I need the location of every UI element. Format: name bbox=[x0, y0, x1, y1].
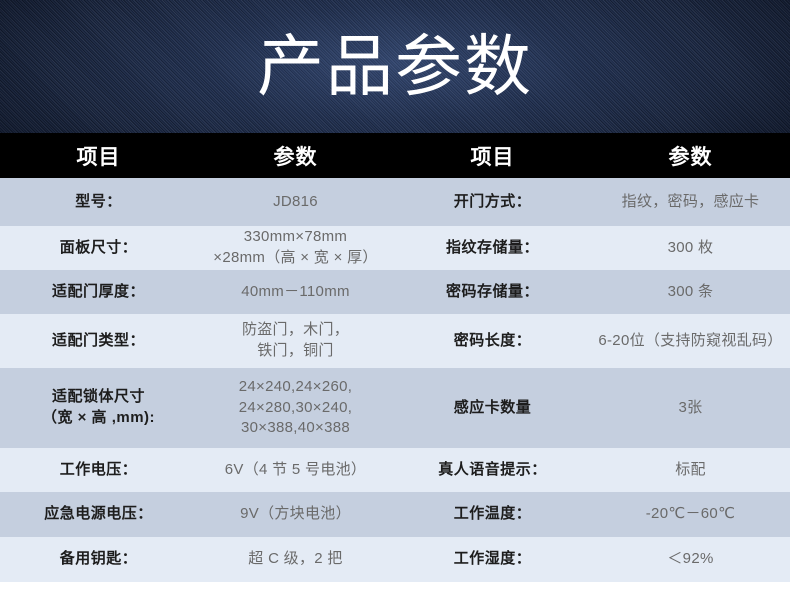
table-row: 工作电压： 6V（4 节 5 号电池） 真人语音提示： 标配 bbox=[0, 448, 790, 492]
spec-value: 40mm－110mm bbox=[197, 270, 394, 314]
spec-label: 应急电源电压： bbox=[0, 492, 197, 537]
spec-value: 300 枚 bbox=[591, 226, 790, 270]
spec-label: 工作电压： bbox=[0, 448, 197, 492]
table-row: 面板尺寸： 330mm×78mm×28mm（高 × 宽 × 厚） 指纹存储量： … bbox=[0, 226, 790, 270]
table-header-row: 项目 参数 项目 参数 bbox=[0, 133, 790, 178]
spec-value: 超 C 级，2 把 bbox=[197, 537, 394, 582]
spec-value: 3张 bbox=[591, 368, 790, 448]
spec-label: 适配门类型： bbox=[0, 314, 197, 368]
column-header-param-right: 参数 bbox=[591, 133, 790, 178]
spec-value: -20℃－60℃ bbox=[591, 492, 790, 537]
spec-label: 指纹存储量： bbox=[394, 226, 591, 270]
table-header: 项目 参数 项目 参数 bbox=[0, 133, 790, 178]
table-row: 型号： JD816 开门方式： 指纹，密码，感应卡 bbox=[0, 178, 790, 226]
spec-value: 24×240,24×260,24×280,30×240,30×388,40×38… bbox=[197, 368, 394, 448]
spec-label: 感应卡数量 bbox=[394, 368, 591, 448]
page-title: 产品参数 bbox=[0, 33, 790, 100]
spec-value: 9V（方块电池） bbox=[197, 492, 394, 537]
spec-label: 工作湿度： bbox=[394, 537, 591, 582]
spec-label: 密码存储量： bbox=[394, 270, 591, 314]
table-body: 型号： JD816 开门方式： 指纹，密码，感应卡 面板尺寸： 330mm×78… bbox=[0, 178, 790, 582]
spec-value: 指纹，密码，感应卡 bbox=[591, 178, 790, 226]
spec-label: 面板尺寸： bbox=[0, 226, 197, 270]
spec-value: 300 条 bbox=[591, 270, 790, 314]
table-row: 适配门类型： 防盗门，木门，铁门，铜门 密码长度： 6-20位（支持防窥视乱码） bbox=[0, 314, 790, 368]
spec-value: JD816 bbox=[197, 178, 394, 226]
spec-value: 330mm×78mm×28mm（高 × 宽 × 厚） bbox=[197, 226, 394, 270]
spec-label: 适配门厚度： bbox=[0, 270, 197, 314]
spec-value: 6V（4 节 5 号电池） bbox=[197, 448, 394, 492]
spec-label: 工作温度： bbox=[394, 492, 591, 537]
footer-spacer bbox=[0, 582, 790, 605]
table-row: 应急电源电压： 9V（方块电池） 工作温度： -20℃－60℃ bbox=[0, 492, 790, 537]
column-header-item-left: 项目 bbox=[0, 133, 197, 178]
table-row: 备用钥匙： 超 C 级，2 把 工作湿度： ＜92% bbox=[0, 537, 790, 582]
spec-label: 密码长度： bbox=[394, 314, 591, 368]
table-row: 适配门厚度： 40mm－110mm 密码存储量： 300 条 bbox=[0, 270, 790, 314]
spec-value: 标配 bbox=[591, 448, 790, 492]
table-row: 适配锁体尺寸（宽 × 高 ,mm): 24×240,24×260,24×280,… bbox=[0, 368, 790, 448]
column-header-param-left: 参数 bbox=[197, 133, 394, 178]
column-header-item-right: 项目 bbox=[394, 133, 591, 178]
spec-label: 开门方式： bbox=[394, 178, 591, 226]
spec-value: 6-20位（支持防窥视乱码） bbox=[591, 314, 790, 368]
spec-value: 防盗门，木门，铁门，铜门 bbox=[197, 314, 394, 368]
product-spec-table: 项目 参数 项目 参数 型号： JD816 开门方式： 指纹，密码，感应卡 面板… bbox=[0, 133, 790, 582]
spec-value: ＜92% bbox=[591, 537, 790, 582]
page-banner: 产品参数 bbox=[0, 0, 790, 133]
spec-label: 真人语音提示： bbox=[394, 448, 591, 492]
spec-label: 备用钥匙： bbox=[0, 537, 197, 582]
spec-label: 型号： bbox=[0, 178, 197, 226]
spec-label: 适配锁体尺寸（宽 × 高 ,mm): bbox=[0, 368, 197, 448]
